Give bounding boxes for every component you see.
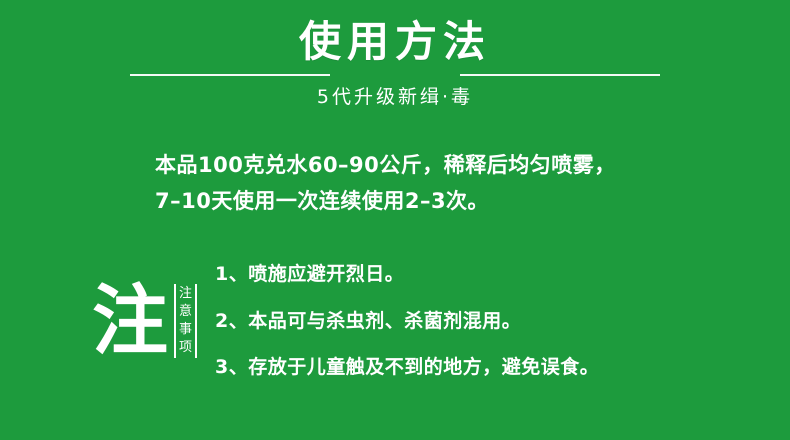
notes-section: 注 注 意 事 项 1、喷施应避开烈日。 2、本品可与杀虫剂、杀菌剂混用。 3、… bbox=[0, 262, 790, 380]
note-item: 3、存放于儿童触及不到的地方，避免误食。 bbox=[215, 355, 730, 380]
notes-list: 1、喷施应避开烈日。 2、本品可与杀虫剂、杀菌剂混用。 3、存放于儿童触及不到的… bbox=[215, 262, 790, 380]
instructions-line-2: 7–10天使用一次连续使用2–3次。 bbox=[155, 183, 670, 219]
promo-panel: 使用方法 5代升级新缉·毒 本品100克兑水60–90公斤，稀释后均匀喷雾， 7… bbox=[0, 0, 790, 440]
notes-label: 注 注 意 事 项 bbox=[0, 284, 215, 358]
notes-vertical-char-2: 意 bbox=[179, 303, 192, 321]
page-subtitle: 5代升级新缉·毒 bbox=[0, 82, 790, 109]
instructions-line-1: 本品100克兑水60–90公斤，稀释后均匀喷雾， bbox=[155, 147, 670, 183]
note-item: 1、喷施应避开烈日。 bbox=[215, 262, 730, 287]
note-item: 2、本品可与杀虫剂、杀菌剂混用。 bbox=[215, 309, 730, 334]
notes-big-character: 注 bbox=[92, 285, 168, 357]
notes-vertical-char-3: 事 bbox=[179, 321, 192, 339]
instructions-block: 本品100克兑水60–90公斤，稀释后均匀喷雾， 7–10天使用一次连续使用2–… bbox=[0, 147, 790, 219]
divider-right bbox=[460, 74, 660, 76]
divider-left bbox=[130, 74, 330, 76]
title-divider bbox=[0, 74, 790, 76]
page-title: 使用方法 bbox=[0, 18, 790, 66]
notes-vertical-label: 注 意 事 项 bbox=[174, 284, 197, 358]
header: 使用方法 5代升级新缉·毒 bbox=[0, 0, 790, 109]
notes-vertical-char-4: 项 bbox=[179, 339, 192, 357]
notes-vertical-char-1: 注 bbox=[179, 285, 192, 303]
